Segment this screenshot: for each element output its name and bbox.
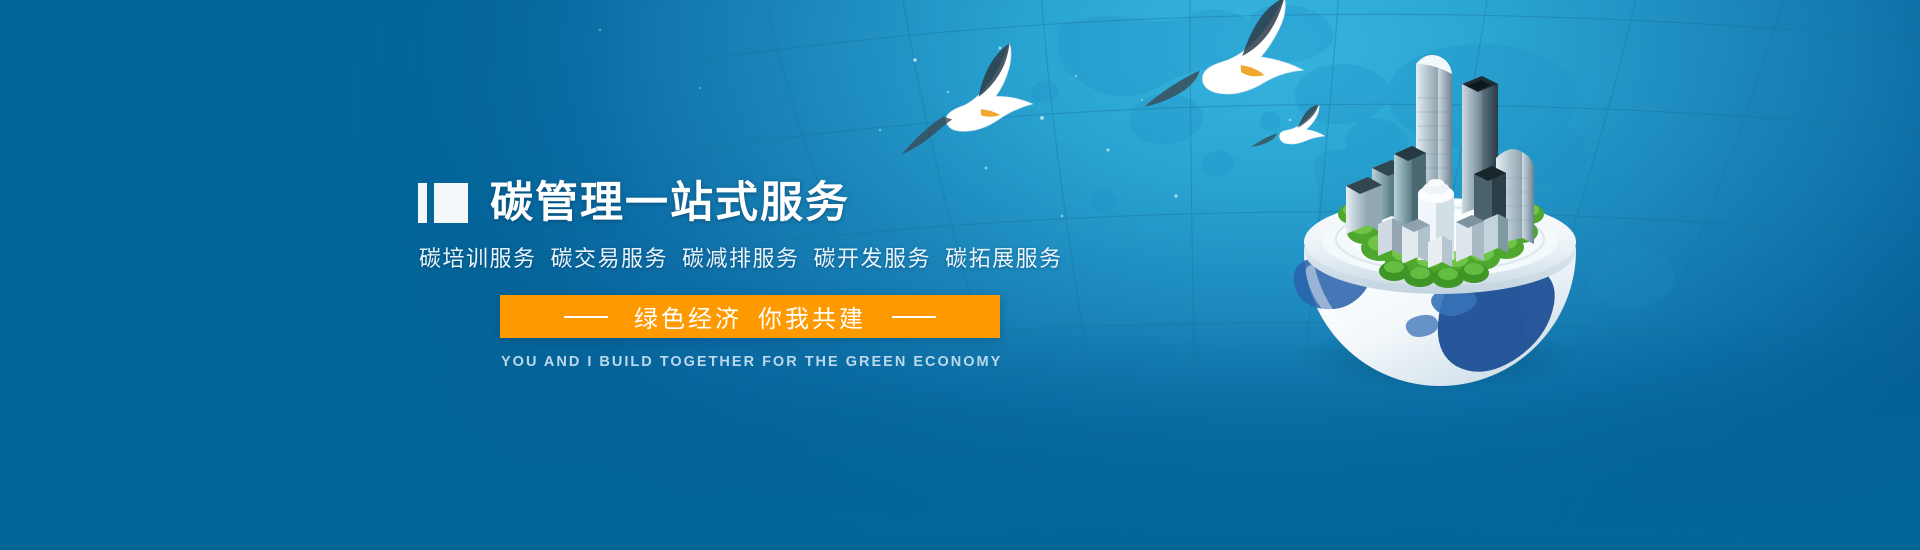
bar-square-icon [434, 183, 468, 223]
dash-left-icon [564, 316, 608, 318]
dash-right-icon [892, 316, 936, 318]
hero-banner: 碳管理一站式服务 碳培训服务碳交易服务碳减排服务碳开发服务碳拓展服务 绿色经济你… [0, 0, 1920, 550]
slogan-banner: 绿色经济你我共建 [500, 295, 1000, 338]
service-item-5: 碳拓展服务 [945, 246, 1063, 271]
slogan-right: 你我共建 [758, 306, 866, 333]
slogan-text: 绿色经济你我共建 [634, 299, 866, 334]
service-item-2: 碳交易服务 [551, 246, 669, 271]
service-item-4: 碳开发服务 [814, 246, 932, 271]
page-title: 碳管理一站式服务 [490, 179, 850, 227]
service-list: 碳培训服务碳交易服务碳减排服务碳开发服务碳拓展服务 [419, 241, 1178, 273]
earth-city-globe-illustration [1268, 28, 1608, 388]
service-item-3: 碳减排服务 [682, 246, 800, 271]
english-tagline: YOU AND I BUILD TOGETHER FOR THE GREEN E… [501, 354, 1001, 370]
title-row: 碳管理一站式服务 [418, 176, 1178, 230]
slogan-left: 绿色经济 [634, 306, 742, 333]
service-item-1: 碳培训服务 [419, 246, 537, 271]
banner-text-block: 碳管理一站式服务 碳培训服务碳交易服务碳减排服务碳开发服务碳拓展服务 绿色经济你… [418, 176, 1178, 370]
bar-block-icon [418, 183, 468, 223]
bar-thin-icon [418, 183, 427, 223]
